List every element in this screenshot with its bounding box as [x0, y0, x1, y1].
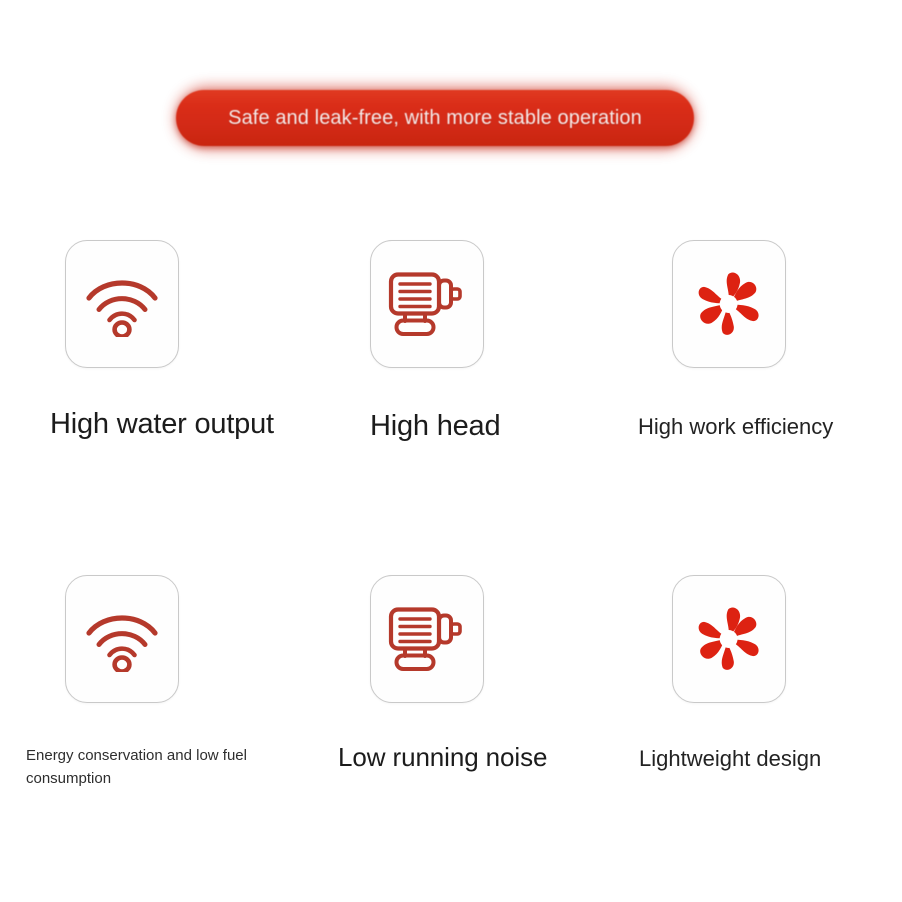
feature-grid: High water output High head: [0, 0, 902, 902]
feature-label: High head: [370, 408, 500, 444]
feature-item-high-head: High head: [370, 240, 500, 444]
electric-motor-icon: [386, 268, 468, 340]
icon-card: [65, 575, 179, 703]
feature-item-low-running-noise: Low running noise: [370, 575, 547, 774]
icon-card: [370, 240, 484, 368]
icon-card: [672, 575, 786, 703]
feature-item-lightweight-design: Lightweight design: [672, 575, 821, 773]
feature-label: Energy conservation and low fuel consump…: [26, 745, 266, 790]
fan-impeller-icon: [690, 600, 768, 678]
wifi-signal-icon: [84, 606, 160, 672]
feature-label: Lightweight design: [639, 745, 821, 773]
feature-item-energy-conservation: Energy conservation and low fuel consump…: [65, 575, 266, 790]
electric-motor-icon: [386, 603, 468, 675]
feature-label: High water output: [50, 406, 274, 442]
feature-label: High work efficiency: [638, 413, 833, 441]
feature-label: Low running noise: [338, 741, 547, 774]
icon-card: [672, 240, 786, 368]
feature-item-high-work-efficiency: High work efficiency: [672, 240, 833, 441]
icon-card: [65, 240, 179, 368]
feature-item-high-water-output: High water output: [65, 240, 274, 442]
wifi-signal-icon: [84, 271, 160, 337]
fan-impeller-icon: [690, 265, 768, 343]
icon-card: [370, 575, 484, 703]
